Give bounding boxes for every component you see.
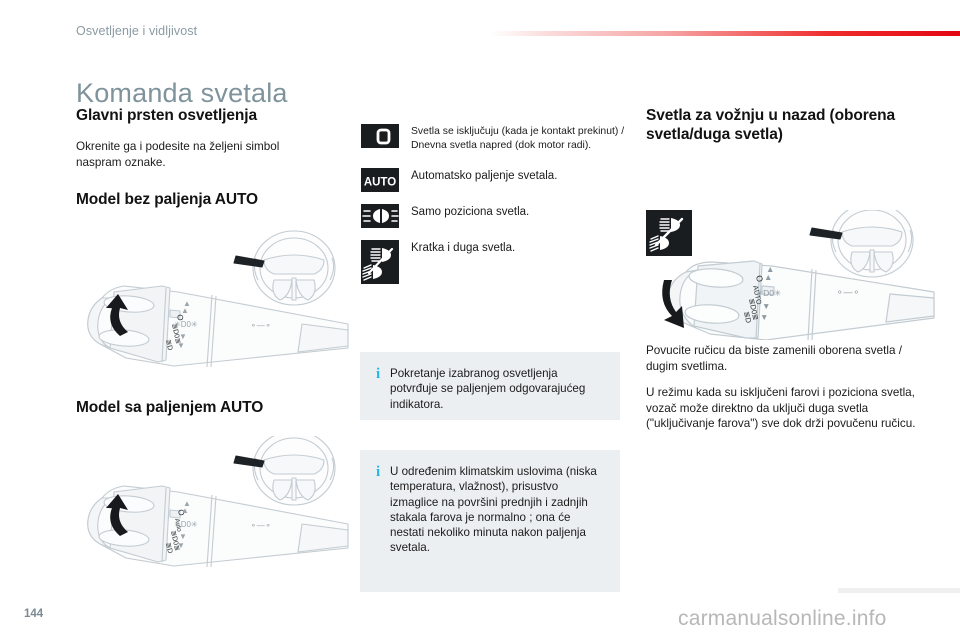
badge-dipped-and-main-beam-icon	[646, 210, 692, 256]
lights-off-icon	[361, 124, 399, 148]
info-icon: i	[376, 464, 390, 480]
illustration-light-stalk-without-auto: O ≣D0≣ ≣D ▲ ▲ ✳D0✳ ▼ ▼ ⚬—⚬	[66, 228, 350, 375]
svg-text:✳D0✳: ✳D0✳	[174, 520, 198, 529]
svg-text:▲: ▲	[181, 306, 189, 315]
section-heading-main-ring: Glavni prsten osvetljenja	[76, 106, 257, 125]
subheading-model-with-auto: Model sa paljenjem AUTO	[76, 398, 263, 417]
info-icon: i	[376, 366, 390, 382]
info-box-text: Pokretanje izabranog osvetljenja potvrđu…	[390, 366, 602, 412]
svg-text:▲: ▲	[764, 272, 772, 282]
symbol-row-lights-off: Svetla se isključuju (kada je kontakt pr…	[361, 124, 631, 152]
symbol-description: Samo poziciona svetla.	[399, 204, 529, 220]
svg-text:⚬—⚬: ⚬—⚬	[250, 521, 271, 530]
intro-paragraph: Okrenite ga i podesite na željeni simbol…	[76, 139, 326, 170]
info-box-indicator: i Pokretanje izabranog osvetljenja potvr…	[360, 352, 620, 420]
watermark-band	[838, 588, 960, 593]
svg-text:▼: ▼	[177, 541, 185, 550]
symbol-description: Svetla se isključuju (kada je kontakt pr…	[399, 124, 631, 152]
section-heading-reverse-lights: Svetla za vožnju u nazad (oborena svetla…	[646, 106, 936, 144]
watermark: carmanualsonline.info	[678, 607, 887, 631]
symbol-row-dipped-and-main-beam: Kratka i duga svetla.	[361, 240, 631, 284]
page-number: 144	[24, 608, 43, 620]
auto-lights-icon: AUTO	[361, 168, 399, 192]
svg-text:✳D0✳: ✳D0✳	[174, 320, 198, 329]
symbol-description: Automatsko paljenje svetala.	[399, 168, 557, 184]
paragraph-pull-stalk: Povucite ručicu da biste zamenili oboren…	[646, 343, 916, 374]
info-box-condensation: i U određenim klimatskim uslovima (niska…	[360, 450, 620, 592]
svg-text:AUTO: AUTO	[364, 177, 396, 189]
symbol-row-auto-lights: AUTO Automatsko paljenje svetala.	[361, 168, 631, 192]
svg-text:▼: ▼	[179, 532, 187, 541]
svg-text:⚬—⚬: ⚬—⚬	[250, 321, 271, 330]
svg-text:▼: ▼	[760, 312, 768, 322]
info-box-text: U određenim klimatskim uslovima (niska t…	[390, 464, 602, 556]
header-accent-rule	[490, 31, 960, 36]
dipped-and-main-beam-icon	[361, 240, 399, 284]
breadcrumb: Osvetljenje i vidljivost	[76, 24, 197, 38]
svg-text:▼: ▼	[762, 301, 770, 311]
position-lights-icon	[361, 204, 399, 228]
illustration-stalk-pull-main-beam: O AUTO ≣D0≣ ≣D ▲ ▲ ✳D0✳ ▼ ▼ ⚬—⚬	[646, 210, 936, 345]
illustration-light-stalk-with-auto: O Auto ≣D0≣ ≣D ▲ ▲ ✳D0✳ ▼ ▼ ⚬—⚬	[66, 436, 350, 583]
symbol-row-position-lights: Samo poziciona svetla.	[361, 204, 631, 228]
svg-text:⚬—⚬: ⚬—⚬	[836, 287, 860, 297]
svg-text:▼: ▼	[177, 341, 185, 350]
page-title: Komanda svetala	[76, 78, 288, 109]
symbol-description: Kratka i duga svetla.	[399, 240, 515, 256]
svg-text:▼: ▼	[179, 332, 187, 341]
subheading-model-without-auto: Model bez paljenja AUTO	[76, 190, 258, 209]
svg-text:✳D0✳: ✳D0✳	[756, 288, 782, 298]
svg-text:▲: ▲	[181, 506, 189, 515]
symbol-legend-table: Svetla se isključuju (kada je kontakt pr…	[361, 124, 631, 284]
paragraph-flash-mode: U režimu kada su isključeni farovi i poz…	[646, 385, 916, 432]
